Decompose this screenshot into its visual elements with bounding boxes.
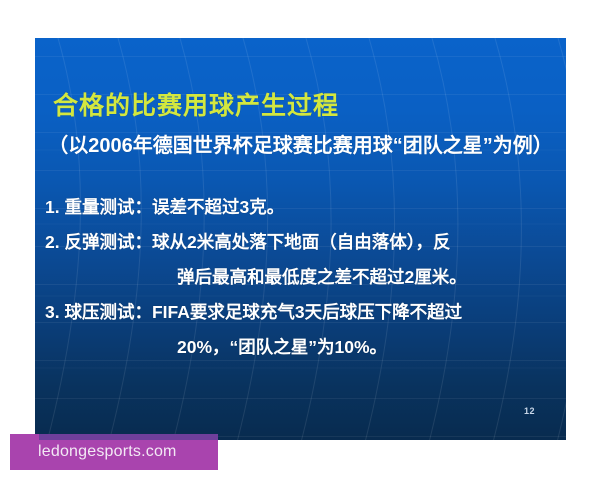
list-item-line: 3. 球压测试：FIFA要求足球充气3天后球压下降不超过 bbox=[45, 295, 560, 330]
list-item-line: 2. 反弹测试：球从2米高处落下地面（自由落体），反 bbox=[45, 225, 560, 260]
slide-page-number: 12 bbox=[524, 406, 535, 416]
screenshot-root: 合格的比赛用球产生过程 （以2006年德国世界杯足球赛比赛用球“团队之星”为例）… bbox=[0, 0, 600, 480]
watermark-stripe bbox=[39, 434, 218, 440]
presentation-slide: 合格的比赛用球产生过程 （以2006年德国世界杯足球赛比赛用球“团队之星”为例）… bbox=[35, 38, 566, 440]
watermark-banner: ledongesports.com bbox=[10, 434, 218, 470]
list-item-line-continued: 20%，“团队之星”为10%。 bbox=[45, 330, 560, 365]
slide-body-list: 1. 重量测试：误差不超过3克。 2. 反弹测试：球从2米高处落下地面（自由落体… bbox=[45, 190, 560, 365]
slide-content: 合格的比赛用球产生过程 （以2006年德国世界杯足球赛比赛用球“团队之星”为例）… bbox=[35, 38, 566, 440]
slide-title: 合格的比赛用球产生过程 bbox=[53, 86, 339, 122]
slide-subtitle: （以2006年德国世界杯足球赛比赛用球“团队之星”为例） bbox=[35, 129, 566, 158]
list-item: 2. 反弹测试：球从2米高处落下地面（自由落体），反 弹后最高和最低度之差不超过… bbox=[45, 225, 560, 295]
watermark-text: ledongesports.com bbox=[38, 443, 177, 461]
list-item-line-continued: 弹后最高和最低度之差不超过2厘米。 bbox=[45, 260, 560, 295]
list-item: 1. 重量测试：误差不超过3克。 bbox=[45, 190, 560, 225]
list-item: 3. 球压测试：FIFA要求足球充气3天后球压下降不超过 20%，“团队之星”为… bbox=[45, 295, 560, 365]
list-item-line: 1. 重量测试：误差不超过3克。 bbox=[45, 190, 560, 225]
